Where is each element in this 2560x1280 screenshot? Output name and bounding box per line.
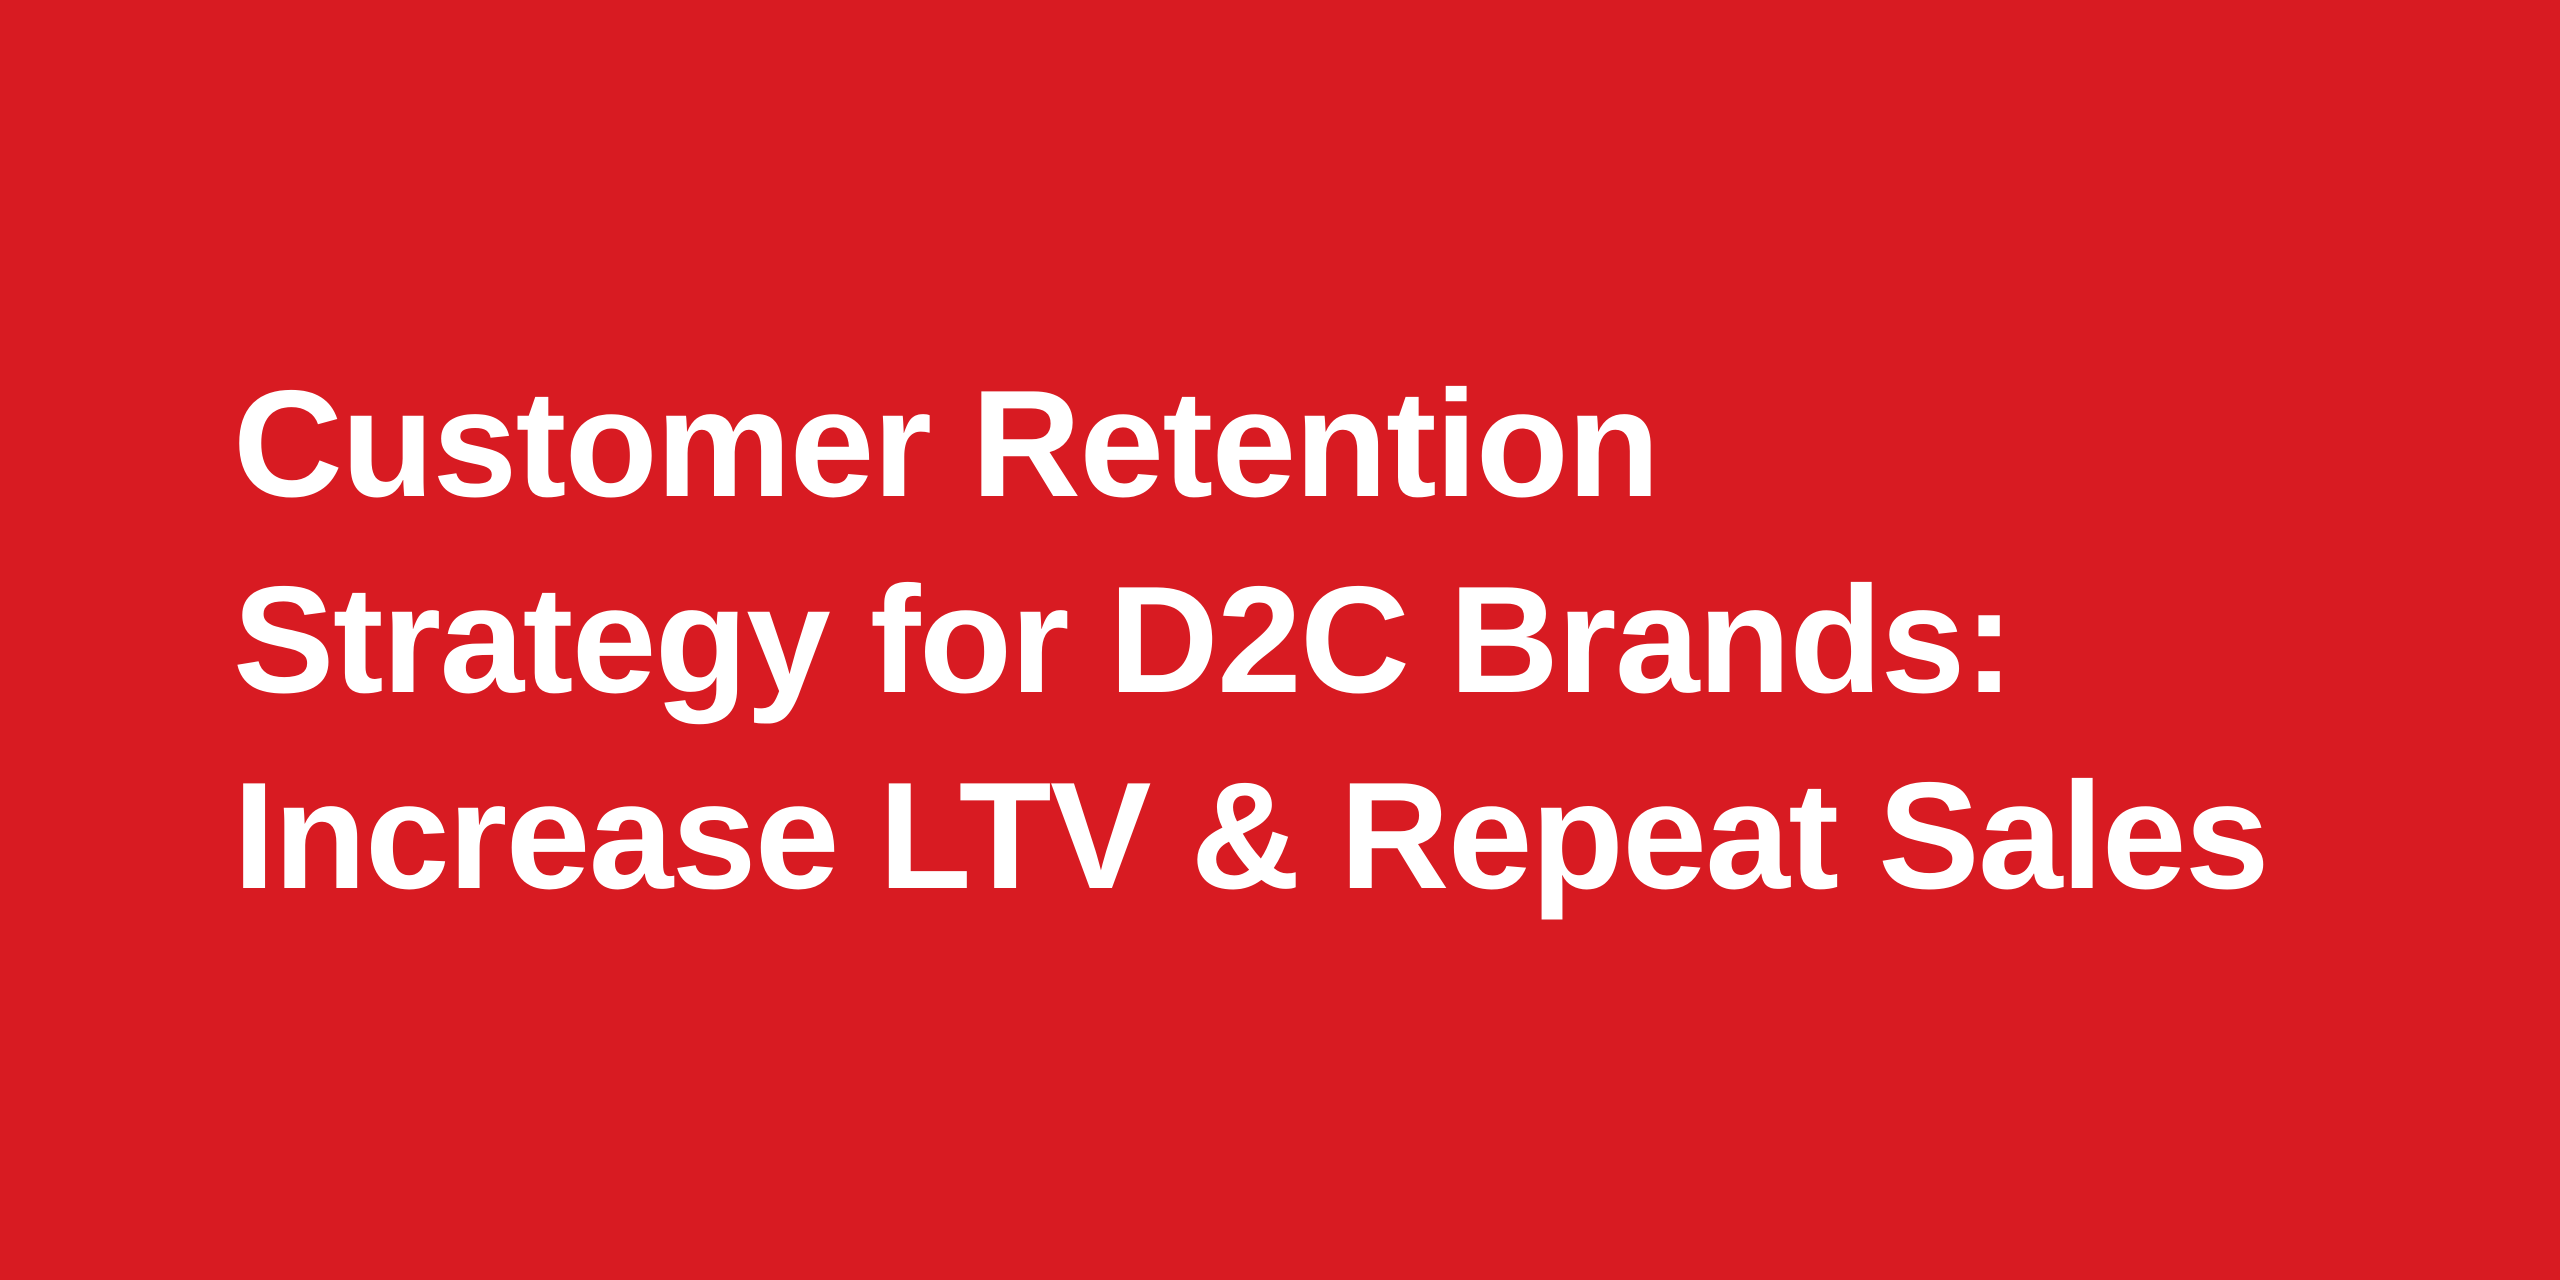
hero-banner: Customer Retention Strategy for D2C Bran… bbox=[0, 0, 2560, 1280]
headline-line-1: Customer Retention bbox=[233, 346, 2268, 542]
headline-line-2: Strategy for D2C Brands: bbox=[233, 542, 2268, 738]
headline-line-3: Increase LTV & Repeat Sales bbox=[233, 738, 2268, 934]
page-title: Customer Retention Strategy for D2C Bran… bbox=[233, 346, 2268, 934]
